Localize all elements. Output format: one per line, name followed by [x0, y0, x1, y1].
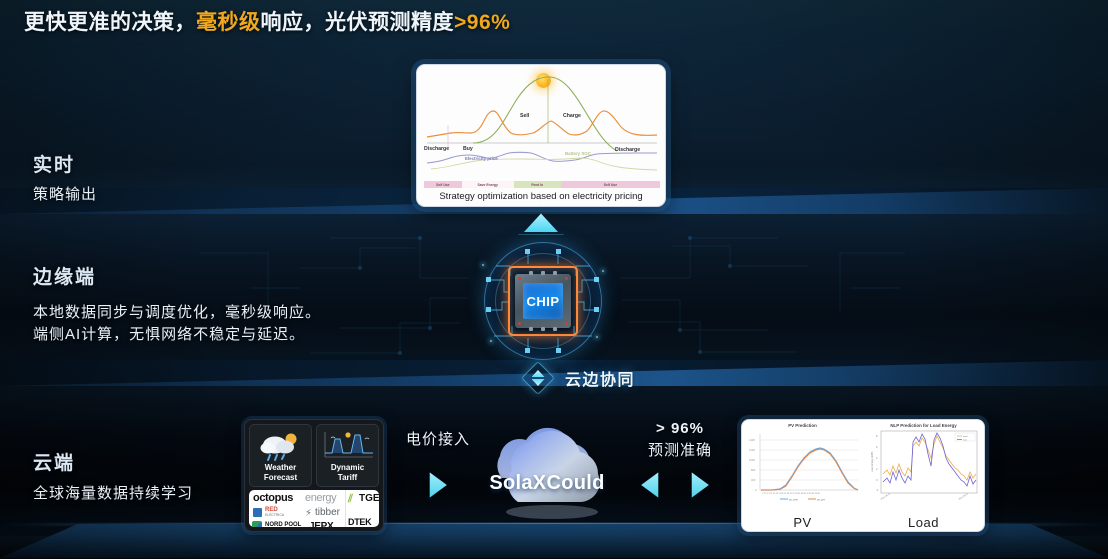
svg-text:pred: pred: [963, 435, 968, 438]
mode-segment-bar: Self UseSave EnergyFeed InSelf Use: [424, 181, 660, 188]
layer-realtime-subtitle: 策略输出: [33, 184, 97, 206]
svg-text:1200: 1200: [749, 448, 755, 452]
logo-nord-pool-mark: [252, 521, 262, 527]
chip-die: CHIP: [523, 283, 563, 319]
layer-edge-subtitle-line2: 端侧AI计算，无惧网络不稳定与延迟。: [33, 324, 321, 346]
layer-cloud-heading: 云端: [33, 448, 193, 475]
svg-text:pv_real: pv_real: [789, 498, 798, 502]
strategy-card-caption: Strategy optimization based on electrici…: [417, 191, 665, 202]
cloud-label: SolaXCould: [466, 472, 628, 495]
tibber-bolt-icon: ⚡: [305, 508, 312, 519]
svg-text:pv_pre: pv_pre: [817, 498, 825, 502]
data-sources-panel[interactable]: Weather Forecast Dynamic Tariff: [244, 419, 384, 532]
arrow-up-icon: [532, 370, 545, 377]
mode-segment-3: Self Use: [561, 181, 660, 188]
weather-cloud-icon: [259, 430, 303, 464]
arrow-right-icon[interactable]: [686, 470, 712, 500]
svg-text:2024-06-07: 2024-06-07: [958, 493, 969, 501]
mode-segment-0: Self Use: [424, 181, 462, 188]
load-chart-panel: NLP Prediction for Load Energy 864 20-2 …: [863, 420, 984, 531]
chevron-up-icon[interactable]: [524, 210, 558, 232]
svg-text:0: 0: [876, 478, 878, 482]
pv-chart: 140012001000 8004000 1 3 5 7 9 11 13 15 …: [742, 428, 864, 504]
collaboration-label: 云边协同: [565, 366, 635, 390]
svg-text:2: 2: [876, 467, 878, 471]
accuracy-text: 预测准确: [632, 439, 728, 460]
logo-tge-mark: ⫽: [348, 493, 353, 506]
pv-caption: PV: [742, 515, 863, 530]
chart-label-charge: Charge: [563, 113, 581, 119]
mode-segment-label-2: Feed In: [531, 183, 543, 187]
mode-segment-label-3: Self Use: [604, 183, 617, 187]
cloud-edge-collaboration[interactable]: 云边协同: [520, 362, 635, 394]
svg-text:0: 0: [755, 488, 757, 492]
svg-text:1000: 1000: [749, 458, 755, 462]
edge-chip-node[interactable]: CHIP: [470, 240, 616, 362]
chart-label-electricity-price: Electricity price: [465, 156, 498, 161]
svg-text:1400: 1400: [749, 438, 755, 442]
arrow-down-icon: [532, 379, 545, 386]
weather-tile-line2: Forecast: [264, 473, 297, 483]
accuracy-value: > 96%: [632, 420, 728, 437]
logo-tibber: tibber: [315, 507, 340, 518]
load-caption: Load: [863, 515, 984, 530]
chip-label: CHIP: [526, 294, 559, 309]
svg-text:6: 6: [876, 445, 878, 449]
pv-load-prediction-card[interactable]: PV Prediction 140012001000 8004000 1 3 5…: [741, 419, 985, 532]
svg-text:-2: -2: [876, 488, 879, 492]
layer-realtime-heading: 实时: [33, 150, 97, 177]
logo-octopus-energy-a: octopus: [253, 492, 293, 504]
chart-label-discharge-right: Discharge: [615, 147, 640, 153]
mode-segment-2: Feed In: [514, 181, 561, 188]
logo-red-electrica-mark: [253, 508, 262, 517]
weather-tile-line1: Weather: [264, 463, 297, 473]
chart-label-buy: Buy: [463, 146, 473, 152]
logo-red-electrica-b: ELÉCTRICA: [265, 513, 284, 517]
solax-cloud-node[interactable]: SolaXCould: [466, 418, 628, 528]
logo-nord-pool: NORD POOL: [265, 522, 301, 527]
svg-text:1 3 5 7 9 11 13 15 17 19 21 23: 1 3 5 7 9 11 13 15 17 19 21 23 25 27 29 …: [762, 493, 821, 495]
svg-text:4: 4: [876, 456, 878, 460]
svg-text:real: real: [963, 439, 967, 442]
logo-dtek: DTEK: [348, 517, 371, 527]
tariff-tile-line1: Dynamic: [331, 463, 364, 473]
partner-logos-strip: octopus energy RED ELÉCTRICA ⚡ tibber NO…: [249, 490, 379, 527]
title-part-1: 更快更准的决策，: [24, 11, 196, 34]
title-highlight-latency: 毫秒级: [196, 11, 261, 34]
accuracy-note: > 96% 预测准确: [632, 420, 728, 460]
chart-label-battery-soc: Battery SOC: [565, 151, 591, 156]
chart-label-discharge-left: Discharge: [424, 146, 449, 152]
svg-text:2024-06-01: 2024-06-01: [880, 493, 891, 501]
logo-tge: TGE: [359, 493, 379, 504]
layer-label-edge: 边缘端 本地数据同步与调度优化，毫秒级响应。 端侧AI计算，无惧网络不稳定与延迟…: [33, 262, 321, 346]
pv-chart-panel: PV Prediction 140012001000 8004000 1 3 5…: [742, 420, 863, 531]
infographic-stage: 更快更准的决策，毫秒级响应，光伏预测精度>96% 实时 策略输出 边缘端 本地数…: [0, 0, 1108, 559]
layer-label-realtime: 实时 策略输出: [33, 150, 97, 206]
dynamic-tariff-tile[interactable]: Dynamic Tariff: [316, 424, 379, 487]
mode-segment-label-1: Save Energy: [478, 183, 498, 187]
title-part-2: 响应，光伏预测精度: [261, 11, 455, 34]
arrow-right-in-icon[interactable]: [424, 470, 450, 500]
tariff-chart-icon: [320, 429, 376, 462]
updown-arrows-icon[interactable]: [520, 362, 556, 394]
mode-segment-1: Save Energy: [462, 181, 514, 188]
weather-forecast-tile[interactable]: Weather Forecast: [249, 424, 312, 487]
svg-text:800: 800: [751, 468, 756, 472]
strategy-chart: [417, 65, 666, 185]
layer-edge-heading: 边缘端: [33, 262, 321, 289]
mode-segment-label-0: Self Use: [436, 183, 449, 187]
layer-label-cloud: 云端 全球海量数据持续学习: [33, 448, 193, 505]
layer-cloud-subtitle: 全球海量数据持续学习: [33, 483, 193, 505]
arrow-left-icon[interactable]: [638, 470, 664, 500]
page-title: 更快更准的决策，毫秒级响应，光伏预测精度>96%: [24, 6, 510, 36]
title-highlight-accuracy: >96%: [454, 11, 510, 34]
load-chart: 864 20-2 Load Energy (kWh) pred real 202…: [867, 428, 983, 506]
svg-text:Load Energy (kWh): Load Energy (kWh): [871, 451, 874, 472]
svg-text:400: 400: [751, 478, 756, 482]
layer-edge-subtitle-line1: 本地数据同步与调度优化，毫秒级响应。: [33, 302, 321, 324]
chart-label-sell: Sell: [520, 113, 529, 119]
logo-octopus-energy-b: energy: [305, 492, 336, 504]
svg-text:8: 8: [876, 434, 878, 438]
tariff-tile-line2: Tariff: [331, 473, 364, 483]
logo-jepx: JEPX: [309, 521, 333, 527]
strategy-optimization-card[interactable]: Discharge Buy Sell Charge Discharge Elec…: [416, 64, 666, 207]
